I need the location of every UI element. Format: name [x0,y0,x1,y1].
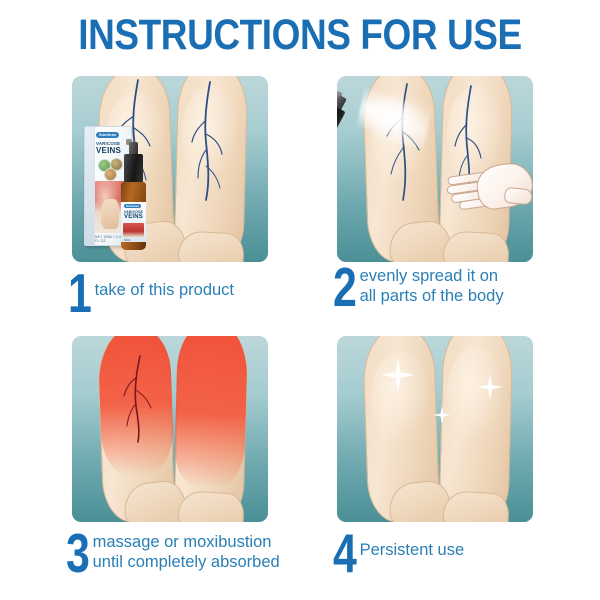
step-number-1: 1 [68,269,92,317]
right-foot [442,230,510,262]
step-number-3: 3 [66,529,90,577]
step-caption-1: take of this product [95,269,234,300]
legs-illustration [72,336,268,522]
product-box-side-text: VARICOSE VEINS SPRAY [84,192,86,239]
right-foot [442,490,510,522]
bottle-label: Sdottnan VARICOSE VEINS 30ML [121,202,146,242]
right-calf-highlight [182,86,240,182]
bottle-line2: VEINS [124,214,143,220]
product-box-side [85,127,95,245]
step-caption-2: evenly spread it on all parts of the bod… [360,263,504,306]
bottle-net: 30ML [124,239,131,242]
step-3-panel [72,336,268,522]
herb-icon-amber [104,168,117,181]
right-foot [177,490,245,522]
caption-step-2: 2 evenly spread it on all parts of the b… [333,263,504,311]
instructions-infographic: INSTRUCTIONS FOR USE [0,0,600,600]
thumb [504,187,533,206]
step-number-2: 2 [333,263,357,311]
step-3 [72,336,268,522]
legs-illustration [337,336,533,522]
product-box-line2: VEINS [96,146,121,155]
step-caption-4: Persistent use [360,529,465,560]
caption-step-4: 4 Persistent use [333,529,464,577]
step-1: Sdottnan VARICOSE VEINS NET 30ML / 1.01 … [72,76,268,262]
bottle-label-photo [123,223,144,237]
bottle-cap [124,154,143,184]
left-calf-highlight [371,352,431,444]
step-number-4: 4 [333,529,357,577]
step-4 [337,336,533,522]
bottle-body: Sdottnan VARICOSE VEINS 30ML [121,182,146,250]
step-2-panel: Sdottnan VARICOSE VEINS [337,76,533,262]
right-calf-highlight [447,346,505,442]
spray-bottle: Sdottnan VARICOSE VEINS 30ML [120,138,147,250]
page-title: INSTRUCTIONS FOR USE [42,10,558,60]
step-1-panel: Sdottnan VARICOSE VEINS NET 30ML / 1.01 … [72,76,268,262]
caption-step-1: 1 take of this product [68,269,234,317]
step-4-panel [337,336,533,522]
bottle-brand: Sdottnan [124,204,141,208]
caption-step-3: 3 massage or moxibustion until completel… [66,529,280,577]
step-caption-3: massage or moxibustion until completely … [93,529,280,572]
step-2: Sdottnan VARICOSE VEINS [337,76,533,262]
right-foot [177,230,245,262]
product-box-brand: Sdottnan [96,132,119,138]
